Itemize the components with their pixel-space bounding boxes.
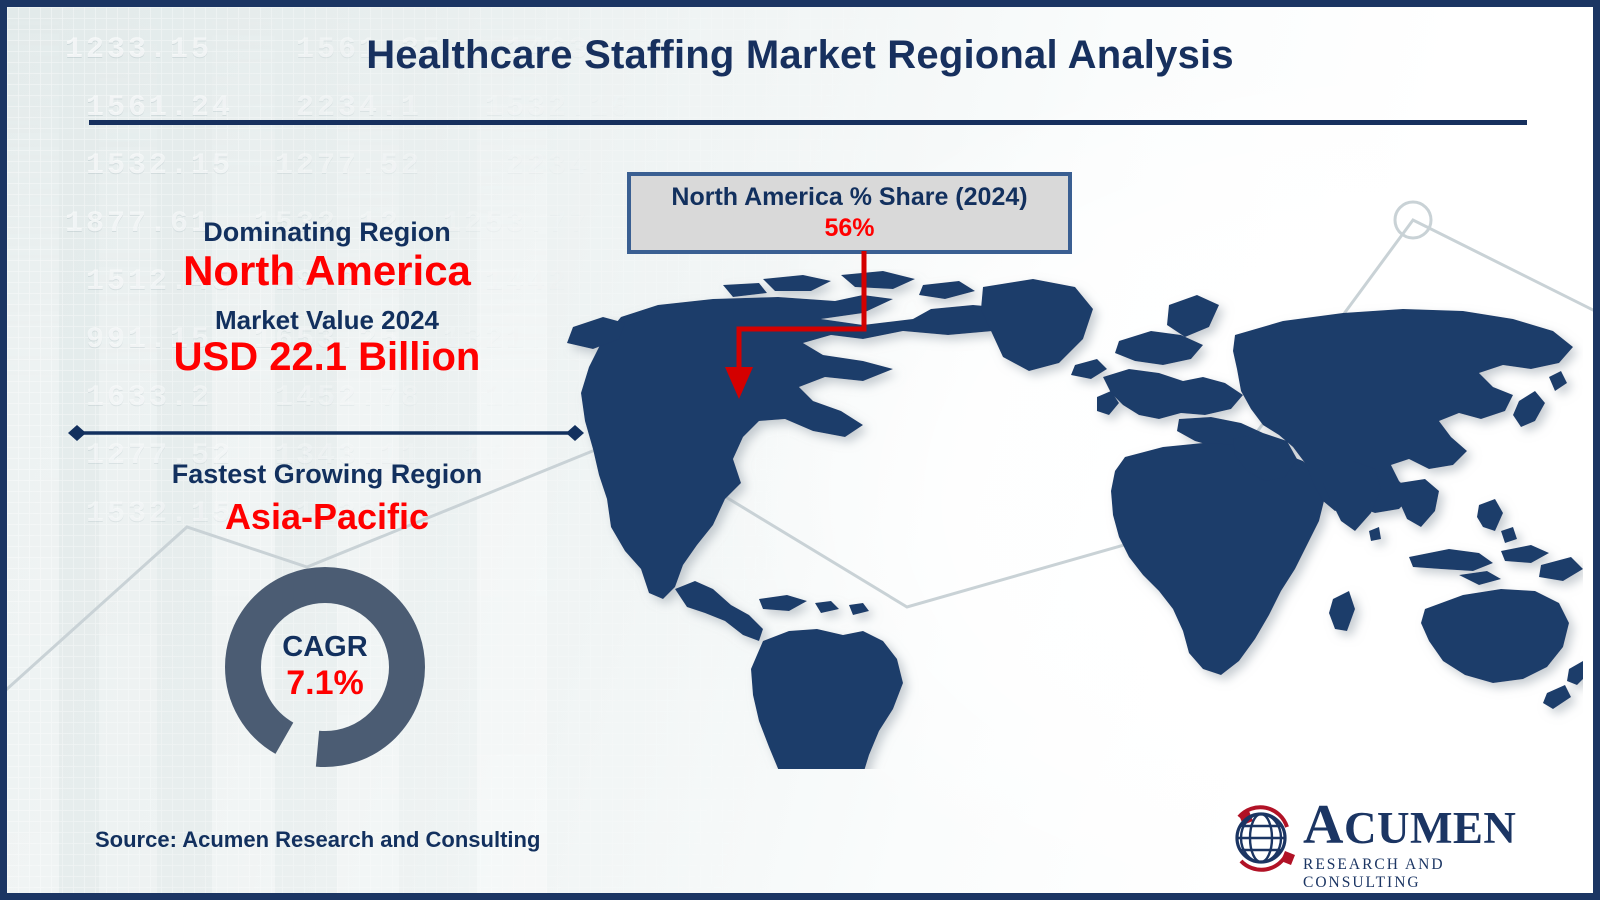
page-title: Healthcare Staffing Market Regional Anal… bbox=[7, 33, 1593, 78]
logo-subtitle: RESEARCH AND CONSULTING bbox=[1303, 856, 1525, 892]
acumen-logo: ACUMEN RESEARCH AND CONSULTING bbox=[1225, 797, 1525, 879]
cagr-value: 7.1% bbox=[286, 665, 364, 702]
source-label: Source: Acumen Research and Consulting bbox=[95, 827, 540, 853]
logo-name: ACUMEN bbox=[1303, 797, 1525, 853]
left-metrics-bottom: Fastest Growing Region Asia-Pacific bbox=[47, 459, 607, 538]
logo-name-capital: A bbox=[1303, 794, 1344, 856]
fastest-growing-value: Asia-Pacific bbox=[47, 496, 607, 538]
left-metrics-top: Dominating Region North America Market V… bbox=[47, 217, 607, 380]
dominating-region-value: North America bbox=[47, 247, 607, 294]
logo-name-rest: CUMEN bbox=[1344, 803, 1516, 853]
cagr-donut-chart: CAGR 7.1% bbox=[223, 565, 427, 769]
cagr-label: CAGR bbox=[282, 632, 367, 662]
dominating-region-label: Dominating Region bbox=[47, 217, 607, 247]
globe-icon bbox=[1225, 801, 1301, 875]
infographic-root: 1233.15 1561.35 1463.15 1561.24 2234.1 1… bbox=[0, 0, 1600, 900]
callout-value: 56% bbox=[824, 214, 874, 243]
market-value-label: Market Value 2024 bbox=[47, 306, 607, 335]
fastest-growing-label: Fastest Growing Region bbox=[47, 459, 607, 490]
callout-arrow-icon bbox=[707, 247, 907, 407]
logo-wordmark: ACUMEN RESEARCH AND CONSULTING bbox=[1303, 797, 1525, 892]
donut-center-text: CAGR 7.1% bbox=[223, 565, 427, 769]
section-divider bbox=[67, 424, 585, 442]
market-value-value: USD 22.1 Billion bbox=[47, 335, 607, 380]
north-america-share-callout: North America % Share (2024) 56% bbox=[627, 172, 1072, 254]
callout-title: North America % Share (2024) bbox=[671, 183, 1027, 212]
title-underline bbox=[89, 120, 1527, 125]
